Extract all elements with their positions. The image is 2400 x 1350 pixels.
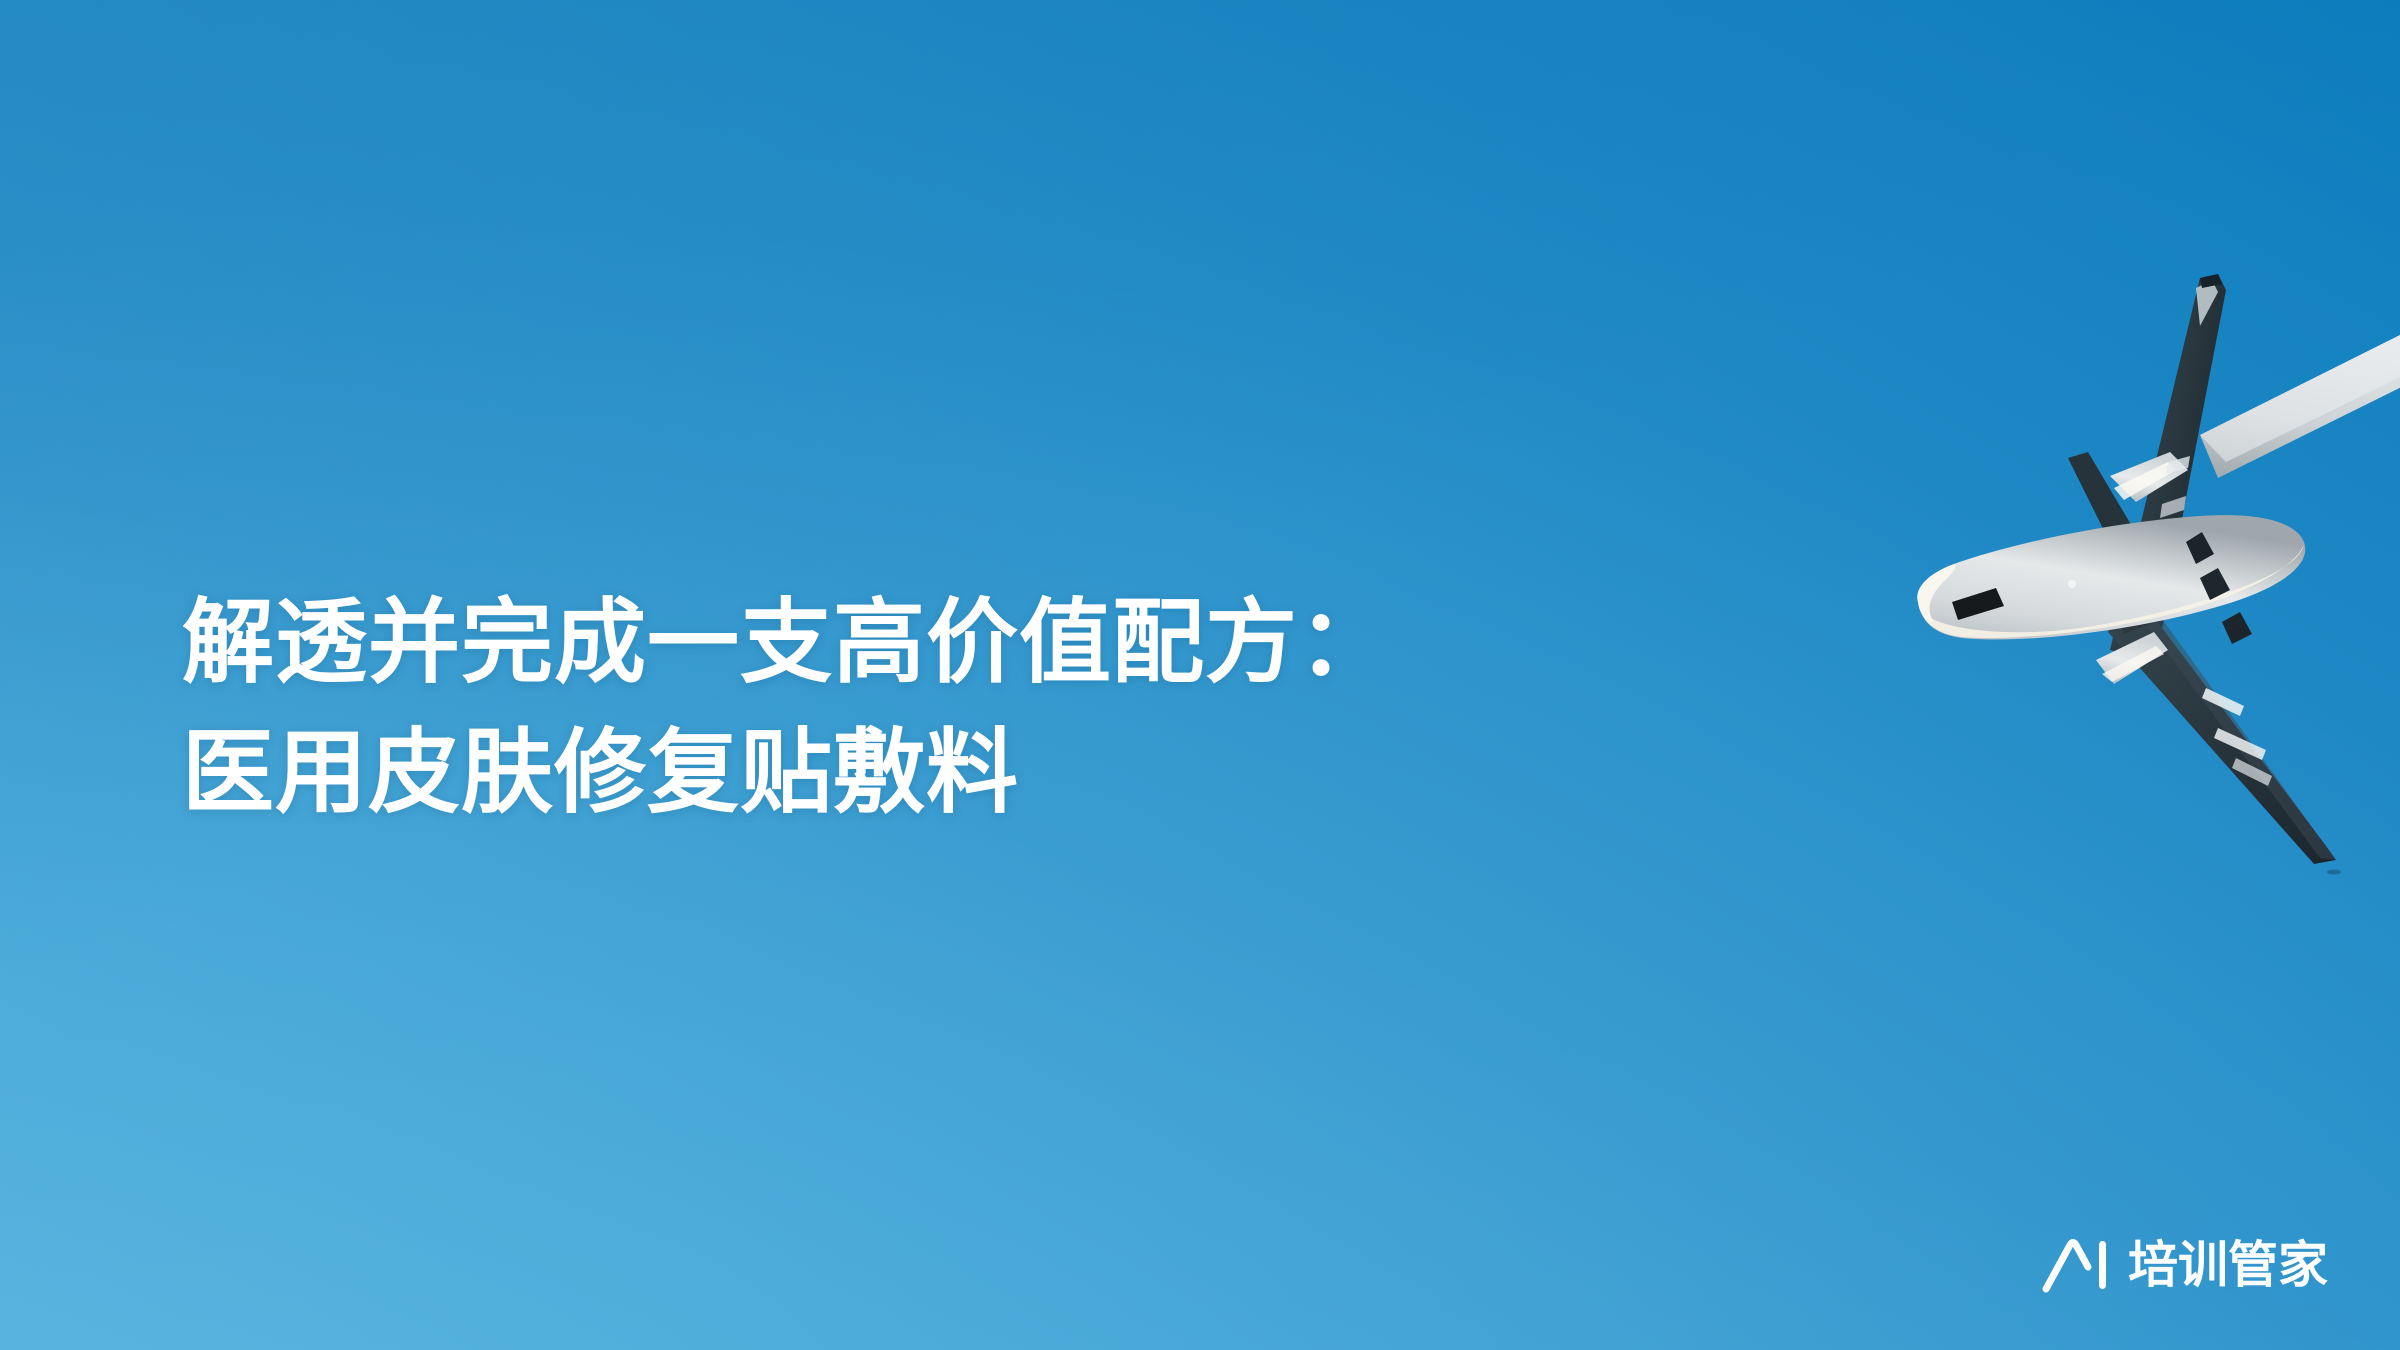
airplane-horizontal-stabilizer xyxy=(2068,452,2152,575)
airplane-photo xyxy=(1900,230,2400,750)
title-slide: 解透并完成一支高价值配方： 医用皮肤修复贴敷料 培训管家 xyxy=(0,0,2400,1350)
airplane-tail-fin xyxy=(2110,274,2226,662)
airplane-engine-right xyxy=(2096,632,2168,684)
title-line-2: 医用皮肤修复贴敷料 xyxy=(182,708,1682,838)
logo-text: 培训管家 xyxy=(2128,1237,2328,1293)
airplane-nose-hatch xyxy=(1952,588,2004,620)
slide-title: 解透并完成一支高价值配方： 医用皮肤修复贴敷料 xyxy=(182,578,1682,838)
ai-logo-icon xyxy=(2042,1237,2118,1293)
airplane-near-wing xyxy=(2108,588,2336,864)
title-line-1: 解透并完成一支高价值配方： xyxy=(182,578,1682,708)
airplane-engine-left xyxy=(2110,452,2188,502)
brand-logo: 培训管家 xyxy=(2042,1228,2328,1302)
airplane-fuselage xyxy=(1917,515,2305,639)
airplane-far-wing xyxy=(2200,325,2400,478)
